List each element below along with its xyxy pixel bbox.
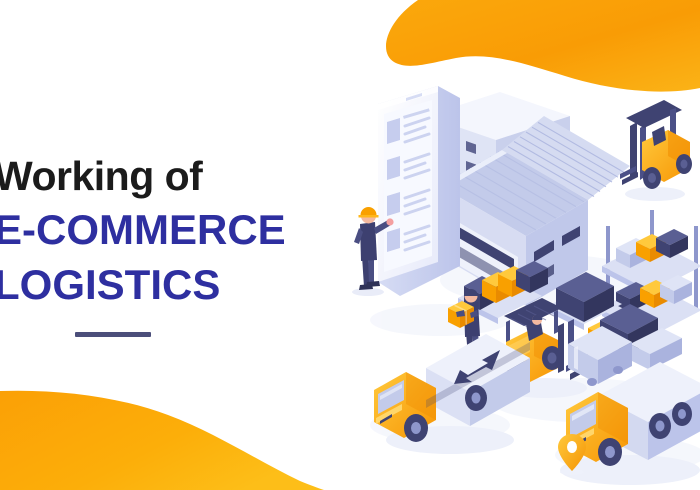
banner-canvas: Working of E-COMMERCE LOGISTICS [0, 0, 700, 490]
giant-smartphone [378, 86, 460, 296]
page-title-line-1: Working of [0, 150, 294, 202]
headline-block: Working of E-COMMERCE LOGISTICS [0, 150, 294, 337]
page-title-line-2: E-COMMERCE [0, 202, 294, 257]
forklift-upper-right [620, 100, 692, 201]
delivery-truck-with-arrow [374, 334, 530, 454]
title-divider-rule [75, 332, 151, 337]
bottom-left-orange-blob [0, 375, 330, 490]
ecommerce-logistics-illustration [330, 70, 700, 490]
page-title-line-3: LOGISTICS [0, 257, 294, 312]
